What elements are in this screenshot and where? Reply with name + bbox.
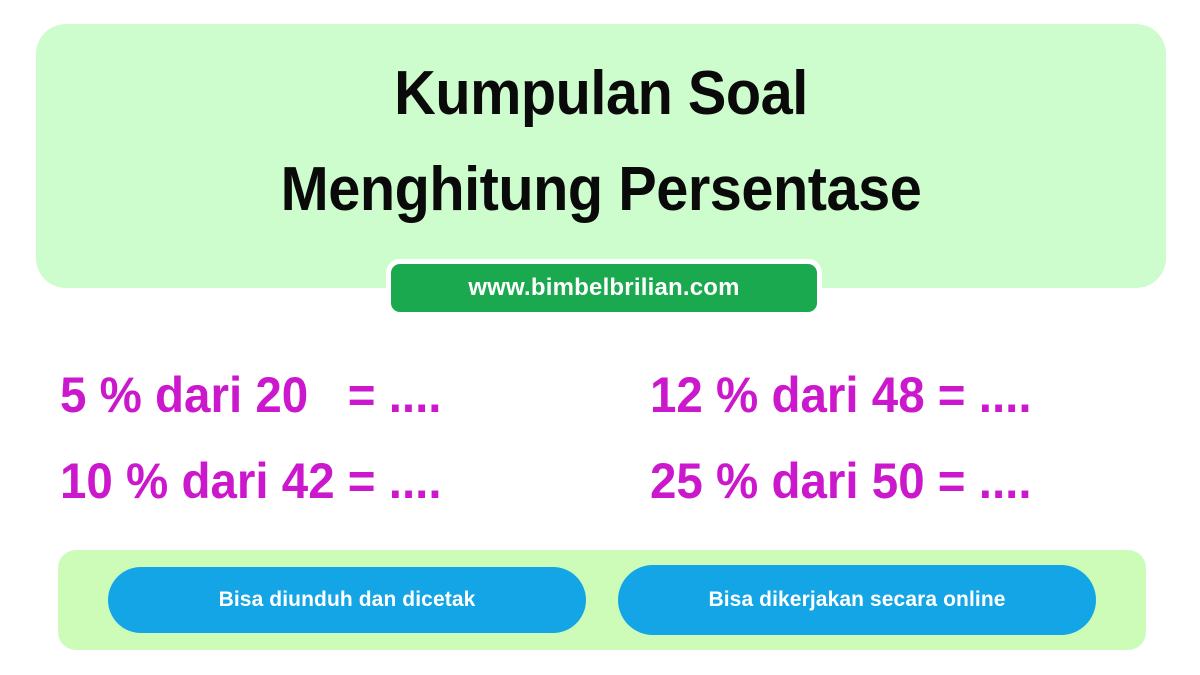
website-url-badge[interactable]: www.bimbelbrilian.com	[386, 259, 822, 317]
questions-section: 5 % dari 20 = .... 10 % dari 42 = .... 1…	[0, 352, 1200, 517]
website-url-text: www.bimbelbrilian.com	[468, 274, 739, 302]
question-item: 25 % dari 50 = ....	[650, 438, 1154, 524]
title-line-2: Menghitung Persentase	[76, 142, 1127, 238]
question-item: 10 % dari 42 = ....	[60, 438, 573, 524]
title-line-1: Kumpulan Soal	[76, 46, 1127, 142]
work-online-button[interactable]: Bisa dikerjakan secara online	[618, 565, 1096, 635]
header-panel: Kumpulan Soal Menghitung Persentase	[36, 24, 1166, 288]
cta-button-row: Bisa diunduh dan dicetak Bisa dikerjakan…	[108, 563, 1096, 637]
question-item: 12 % dari 48 = ....	[650, 352, 1154, 438]
poster-canvas: Kumpulan Soal Menghitung Persentase www.…	[0, 0, 1200, 675]
footer-panel: Bisa diunduh dan dicetak Bisa dikerjakan…	[58, 550, 1146, 650]
download-print-button[interactable]: Bisa diunduh dan dicetak	[108, 567, 586, 633]
question-item: 5 % dari 20 = ....	[60, 352, 573, 438]
questions-left-column: 5 % dari 20 = .... 10 % dari 42 = ....	[60, 352, 600, 524]
page-title: Kumpulan Soal Menghitung Persentase	[36, 46, 1166, 238]
questions-right-column: 12 % dari 48 = .... 25 % dari 50 = ....	[650, 352, 1180, 524]
